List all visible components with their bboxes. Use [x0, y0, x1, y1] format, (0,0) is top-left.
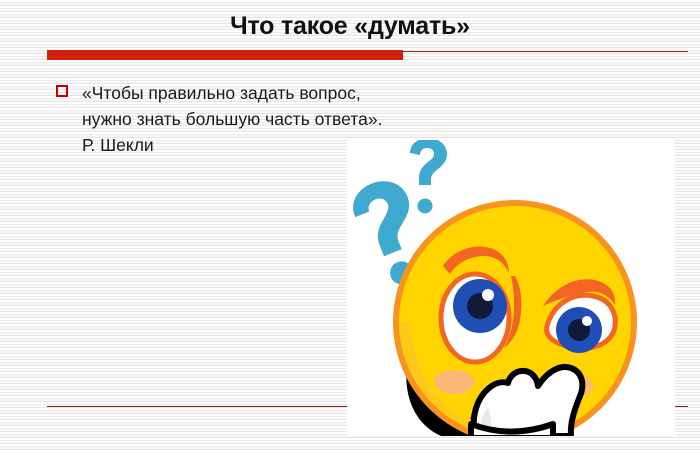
hollow-square-bullet-icon	[56, 85, 68, 97]
thinking-emoji-image	[347, 140, 675, 436]
emoji-blush-left	[434, 370, 474, 394]
slide-canvas: Что такое «думать» «Чтобы правильно зада…	[0, 0, 700, 450]
title-underline-accent-bar	[47, 50, 403, 60]
page-title: Что такое «думать»	[0, 12, 700, 41]
emoji-eye-left	[441, 274, 509, 362]
